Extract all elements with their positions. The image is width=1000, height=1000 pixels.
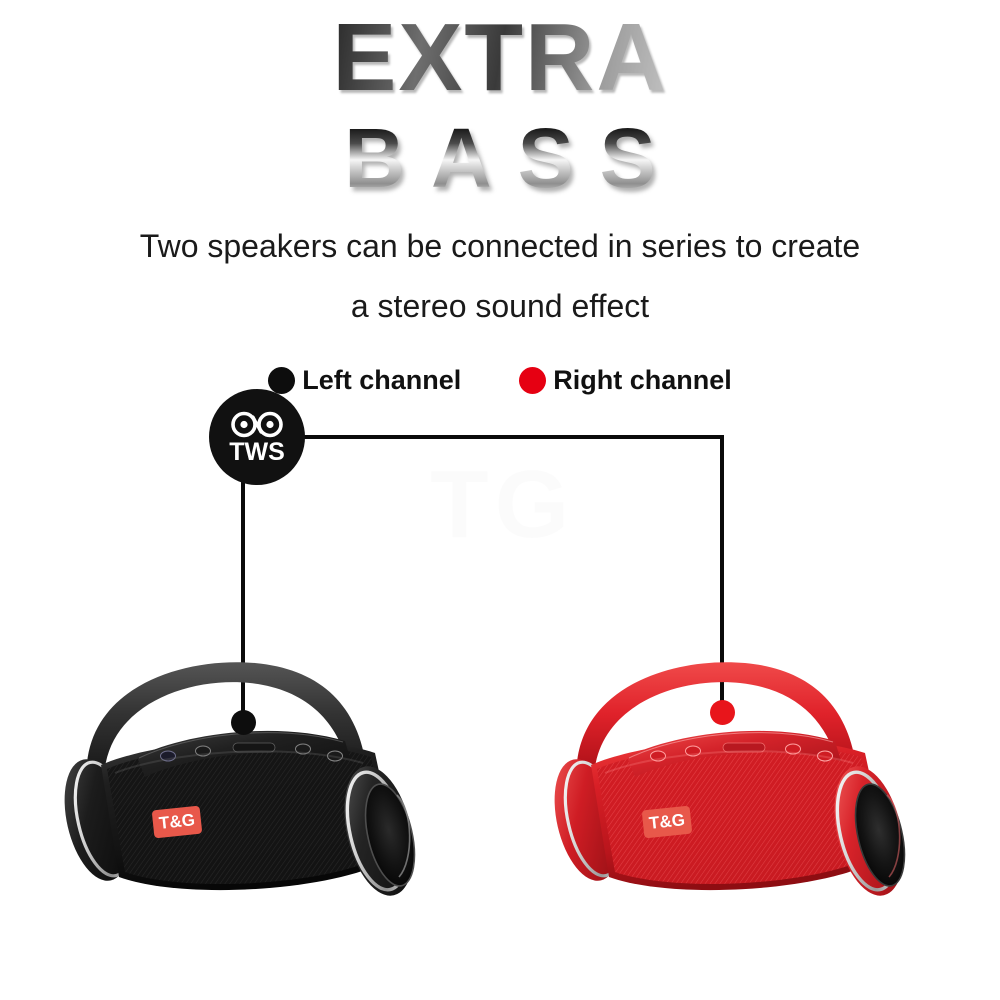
red-circle-icon bbox=[519, 367, 546, 394]
background-watermark: TG bbox=[430, 450, 575, 560]
tws-infinity-rings-icon bbox=[229, 410, 285, 439]
speaker-left-channel: T&G bbox=[45, 645, 465, 945]
legend-item-right-channel: Right channel bbox=[519, 365, 732, 396]
speaker-left-illustration: T&G bbox=[45, 645, 465, 945]
subtitle-line-1: Two speakers can be connected in series … bbox=[0, 228, 1000, 265]
product-marketing-image: TG EXTRA BASS Two speakers can be connec… bbox=[0, 0, 1000, 1000]
brand-badge: T&G bbox=[642, 806, 693, 839]
page-title-extra: EXTRA bbox=[0, 8, 1000, 108]
legend-item-left-channel: Left channel bbox=[268, 365, 461, 396]
brand-badge: T&G bbox=[152, 806, 203, 839]
legend-label-left-channel: Left channel bbox=[302, 365, 461, 396]
right-channel-marker-dot bbox=[710, 700, 735, 725]
channel-legend: Left channel Right channel bbox=[0, 365, 1000, 396]
speaker-right-channel: T&G bbox=[535, 645, 955, 945]
tws-badge-label: TWS bbox=[229, 440, 285, 465]
subtitle-line-2: a stereo sound effect bbox=[0, 288, 1000, 325]
brand-badge-label: T&G bbox=[158, 810, 196, 833]
left-channel-marker-dot bbox=[231, 710, 256, 735]
page-title-bass: BASS bbox=[0, 112, 1000, 204]
tws-badge: TWS bbox=[209, 389, 305, 485]
brand-badge-label: T&G bbox=[648, 810, 686, 833]
speaker-right-illustration: T&G bbox=[535, 645, 955, 945]
legend-label-right-channel: Right channel bbox=[553, 365, 732, 396]
black-circle-icon bbox=[268, 367, 295, 394]
